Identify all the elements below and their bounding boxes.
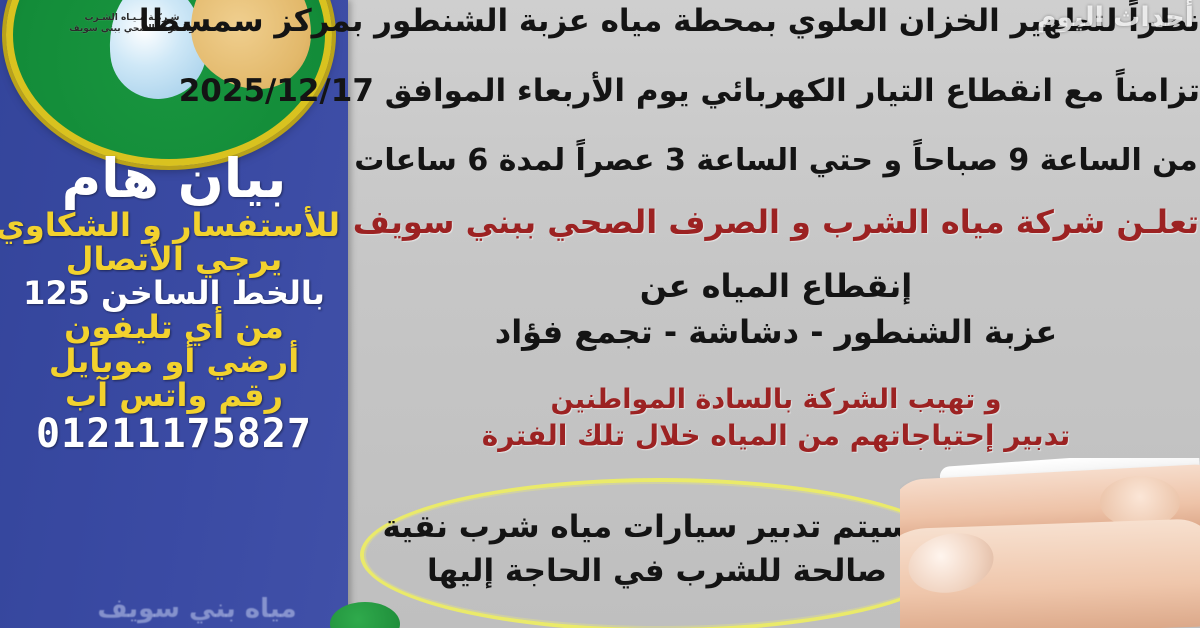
- sidebar-line-hotline: بالخط الساخن 125: [8, 277, 340, 311]
- announcement-line-3: من الساعة 9 صباحاً و حتي الساعة 3 عصراً …: [352, 146, 1200, 176]
- announcement-line-10: صالحة للشرب في الحاجة إليها: [352, 556, 962, 587]
- sidebar-line-inquiry: للأستفسار و الشكاوي: [8, 209, 340, 243]
- announcement-line-2: تزامناً مع انقطاع التيار الكهربائي يوم ا…: [352, 76, 1200, 107]
- hand-photo: [900, 458, 1200, 628]
- announcement-line-9: وسيتم تدبير سيارات مياه شرب نقية: [352, 512, 962, 543]
- sidebar-line-anyphone: من أي تليفون: [8, 311, 340, 345]
- sidebar-faint-text: مياه بني سويف: [72, 594, 322, 628]
- sidebar-line-whatsapp-label: رقم واتس آب: [8, 379, 340, 413]
- sidebar-line-call: يرجي الأتصال: [8, 243, 340, 277]
- sidebar-title: بيان هام: [8, 150, 340, 207]
- announcement-line-8: تدبير إحتياجاتهم من المياه خلال تلك الفت…: [352, 422, 1200, 450]
- sidebar-line-landline-mobile: أرضي أو موبايل: [8, 345, 340, 379]
- announcement-line-6: عزبة الشنطور - دشاشة - تجمع فؤاد: [352, 316, 1200, 348]
- announcement-poster: 🌴 شـركـة مـيـاه الشـرب والصرف الصحي ببني…: [0, 0, 1200, 628]
- announcement-line-4: تعلـن شركة مياه الشرب و الصرف الصحي ببني…: [352, 206, 1200, 238]
- announcement-line-7: و تهيب الشركة بالسادة المواطنين: [352, 386, 1200, 413]
- announcement-line-1: نظراً لتطهير الخزان العلوي بمحطة مياه عز…: [352, 6, 1200, 37]
- sidebar-content: بيان هام للأستفسار و الشكاوي يرجي الأتصا…: [0, 150, 348, 455]
- announcement-line-5: إنقطاع المياه عن: [352, 270, 1200, 302]
- whatsapp-number: 01211175827: [8, 413, 340, 455]
